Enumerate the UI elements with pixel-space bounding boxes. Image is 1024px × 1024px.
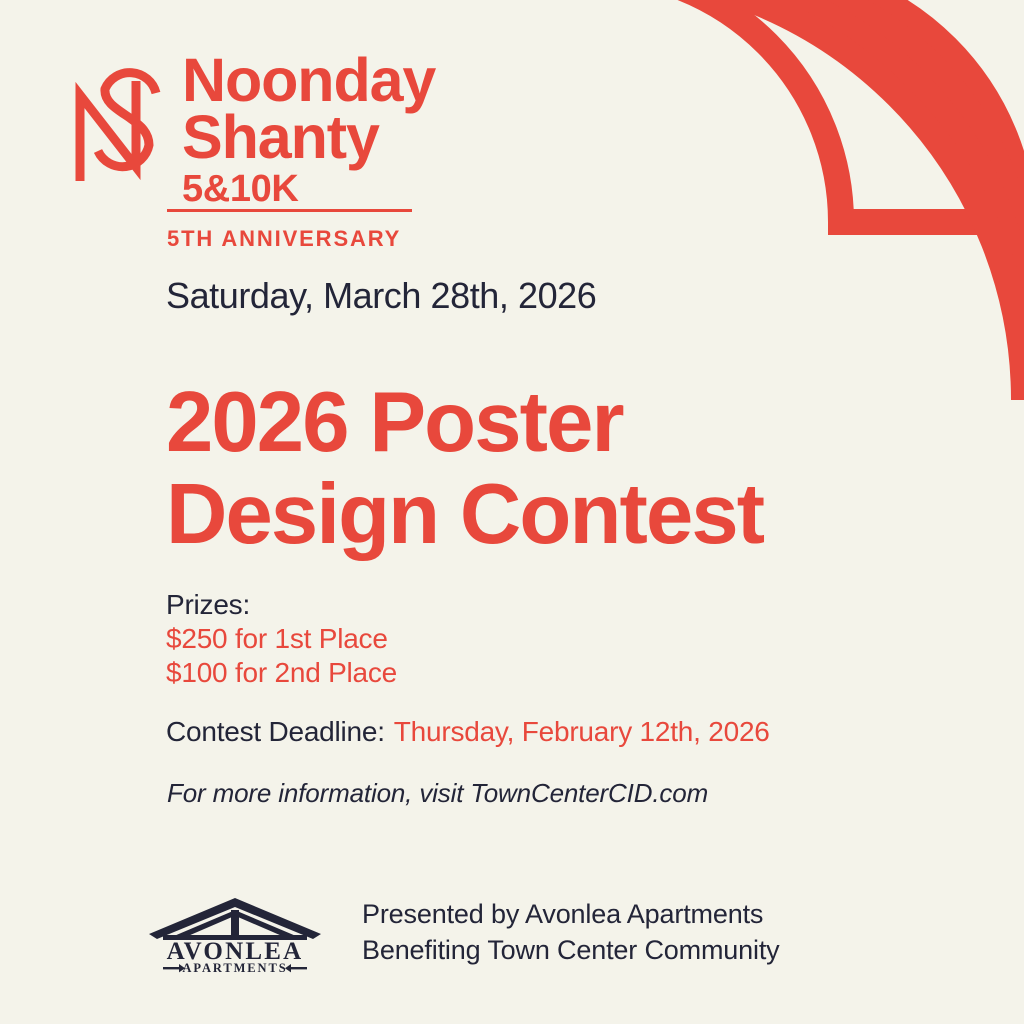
poster-canvas: Noonday Shanty 5&10K 5TH ANNIVERSARY Sat… [0,0,1024,1024]
more-information-text: For more information, visit TownCenterCI… [167,778,708,809]
footer: AVONLEA APARTMENTS Presented by Avonlea … [145,893,780,973]
brand-name-line-2: Shanty [182,109,435,166]
benefiting-line: Benefiting Town Center Community [362,933,780,969]
prize-second-place: $100 for 2nd Place [166,656,397,690]
headline-line-1: 2026 Poster [166,377,763,469]
avonlea-apartments-logo-icon: AVONLEA APARTMENTS [145,893,325,973]
brand-lockup: Noonday Shanty 5&10K [70,52,435,208]
prizes-block: Prizes: $250 for 1st Place $100 for 2nd … [166,588,397,690]
prizes-label: Prizes: [166,588,397,622]
brand-divider-rule [167,209,412,212]
sponsor-text: Presented by Avonlea Apartments Benefiti… [362,897,780,969]
brand-name-line-1: Noonday [182,52,435,109]
concentric-arcs-decoration [554,0,1024,430]
svg-text:APARTMENTS: APARTMENTS [182,961,287,973]
prize-first-place: $250 for 1st Place [166,622,397,656]
contest-deadline: Contest Deadline:Thursday, February 12th… [166,716,770,748]
deadline-value: Thursday, February 12th, 2026 [394,716,770,747]
deadline-label: Contest Deadline: [166,716,385,747]
noonday-shanty-monogram-icon [70,55,168,187]
brand-wordmark: Noonday Shanty 5&10K [182,52,435,208]
anniversary-label: 5TH ANNIVERSARY [167,226,401,252]
event-date: Saturday, March 28th, 2026 [166,275,596,317]
headline-line-2: Design Contest [166,469,763,561]
presented-by-line: Presented by Avonlea Apartments [362,897,780,933]
page-title: 2026 Poster Design Contest [166,377,763,561]
brand-distances: 5&10K [182,170,435,208]
